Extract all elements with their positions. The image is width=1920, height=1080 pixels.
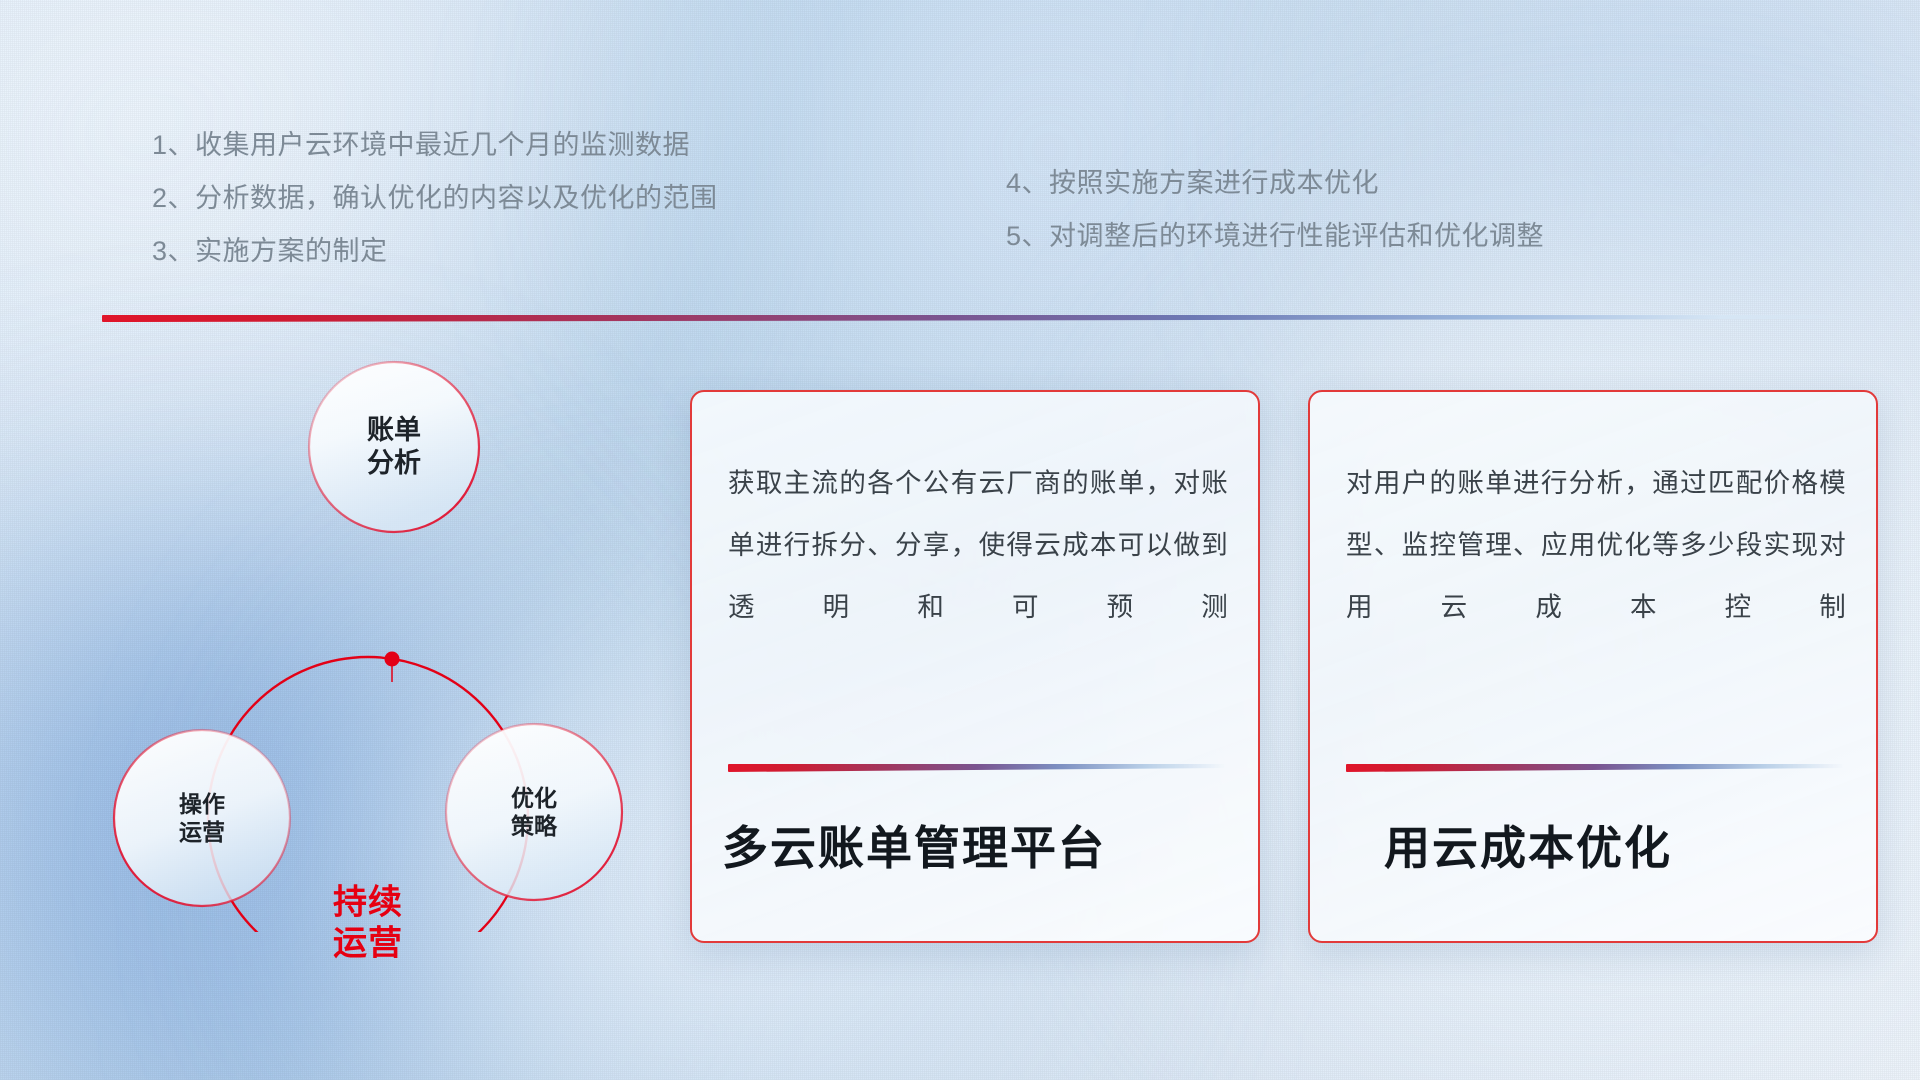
venn-label-line: 运营 (268, 924, 468, 965)
step-item: 1、收集用户云环境中最近几个月的监测数据 (152, 119, 718, 172)
venn-label-line: 持续 (268, 883, 468, 924)
card-title: 用云成本优化 (1384, 812, 1878, 878)
info-card-multi-cloud-billing[interactable]: 获取主流的各个公有云厂商的账单，对账单进行拆分、分享，使得云成本可以做到透明和可… (690, 390, 1260, 943)
venn-label-line: 策略 (449, 812, 619, 840)
step-item: 4、按照实施方案进行成本优化 (1006, 157, 1544, 210)
venn-label-operations: 操作 运营 (117, 790, 287, 846)
card-accent-rule (1346, 764, 1844, 772)
step-item: 2、分析数据，确认优化的内容以及优化的范围 (152, 172, 718, 225)
venn-label-line: 账单 (304, 414, 484, 447)
steps-list-right: 4、按照实施方案进行成本优化 5、对调整后的环境进行性能评估和优化调整 (1006, 157, 1544, 263)
card-body-text: 对用户的账单进行分析，通过匹配价格模型、监控管理、应用优化等多少段实现对用云成本… (1346, 452, 1846, 638)
venn-label-line: 优化 (449, 784, 619, 812)
venn-label-line: 运营 (117, 818, 287, 846)
card-title: 多云账单管理平台 (722, 812, 1232, 878)
venn-label-center: 持续 运营 (268, 883, 468, 966)
step-item: 5、对调整后的环境进行性能评估和优化调整 (1006, 210, 1544, 263)
venn-label-billing-analysis: 账单 分析 (304, 414, 484, 480)
venn-label-optimization-strategy: 优化 策略 (449, 784, 619, 840)
step-item: 3、实施方案的制定 (152, 225, 718, 278)
card-accent-rule (728, 764, 1226, 772)
info-card-cloud-cost-optimization[interactable]: 对用户的账单进行分析，通过匹配价格模型、监控管理、应用优化等多少段实现对用云成本… (1308, 390, 1878, 943)
venn-dot-top (385, 652, 400, 667)
venn-label-line: 分析 (304, 447, 484, 480)
card-body-text: 获取主流的各个公有云厂商的账单，对账单进行拆分、分享，使得云成本可以做到透明和可… (728, 452, 1228, 638)
venn-label-line: 操作 (117, 790, 287, 818)
steps-list-left: 1、收集用户云环境中最近几个月的监测数据 2、分析数据，确认优化的内容以及优化的… (152, 119, 718, 278)
venn-diagram: 账单 分析 持续 运营 操作 运营 优化 策略 (96, 352, 656, 932)
